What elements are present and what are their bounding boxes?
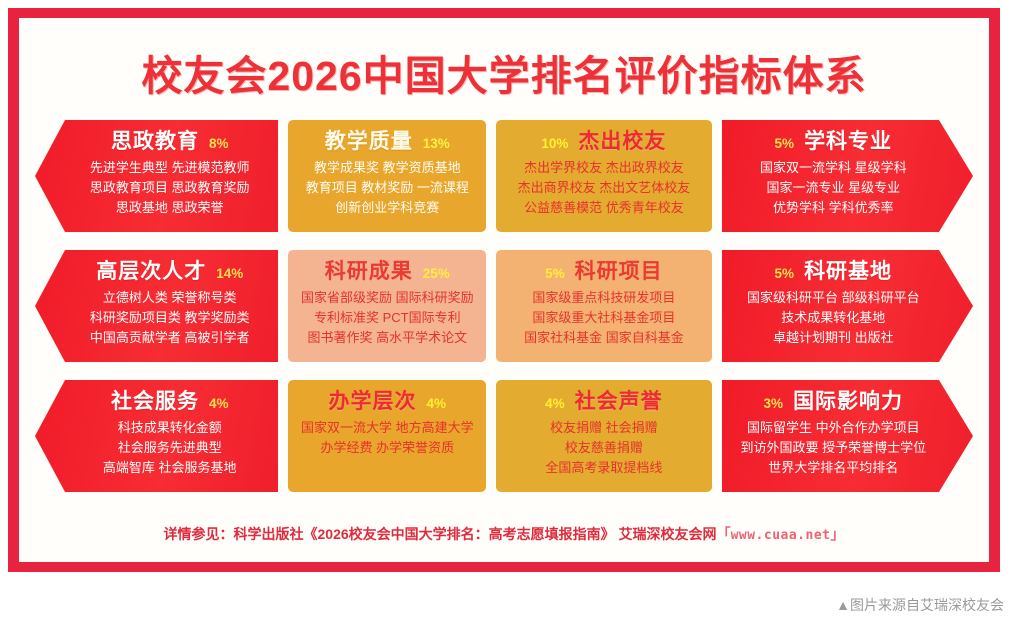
poster-canvas: 校友会2026中国大学排名评价指标体系 思政教育8%先进学生典型 先进模范教师思… — [19, 18, 989, 562]
card-header: 4%社会声誉 — [545, 389, 663, 415]
card-indicator-line: 中国高贡献学者 高被引学者 — [90, 328, 250, 348]
indicator-grid: 思政教育8%先进学生典型 先进模范教师思政教育项目 思政教育奖励思政基地 思政荣… — [35, 120, 973, 492]
indicator-card-xueke-zhuanye[interactable]: 5%学科专业国家双一流学科 星级学科国家一流专业 星级专业优势学科 学科优秀率 — [722, 120, 973, 232]
card-header: 教学质量13% — [325, 129, 450, 155]
card-weight-percent: 4% — [209, 396, 229, 413]
page-title: 校友会2026中国大学排名评价指标体系 — [19, 42, 989, 102]
indicator-card-banxue-cengci[interactable]: 办学层次4%国家双一流大学 地方高建大学办学经费 办学荣誉资质 — [288, 380, 486, 492]
card-header: 10%杰出校友 — [541, 129, 666, 155]
card-indicator-list: 国家省部级奖励 国际科研奖励专利标准奖 PCT国际专利图书著作奖 高水平学术论文 — [301, 288, 474, 347]
card-indicator-line: 科研奖励项目类 教学奖励类 — [90, 308, 250, 328]
card-indicator-line: 优势学科 学科优秀率 — [760, 198, 907, 218]
card-weight-percent: 4% — [427, 396, 447, 413]
indicator-card-keyan-xiangmu[interactable]: 5%科研项目国家级重点科技研发项目国家级重大社科基金项目国家社科基金 国家自科基… — [496, 250, 711, 362]
card-indicator-list: 国家级科研平台 部级科研平台技术成果转化基地卓越计划期刊 出版社 — [747, 288, 920, 347]
card-weight-percent: 5% — [775, 266, 795, 283]
card-weight-percent: 14% — [216, 266, 243, 283]
card-indicator-line: 杰出商界校友 杰出文艺体校友 — [518, 178, 691, 198]
card-indicator-line: 高端智库 社会服务基地 — [103, 458, 237, 478]
card-indicator-line: 社会服务先进典型 — [103, 438, 237, 458]
card-indicator-line: 国家省部级奖励 国际科研奖励 — [301, 288, 474, 308]
card-indicator-line: 先进学生典型 先进模范教师 — [90, 158, 250, 178]
card-indicator-line: 国际留学生 中外合作办学项目 — [741, 418, 927, 438]
card-indicator-line: 创新创业学科竞赛 — [306, 198, 469, 218]
footnote-text: 详情参见：科学出版社《2026校友会中国大学排名：高考志愿填报指南》 艾瑞深校友… — [164, 526, 717, 542]
card-header: 思政教育8% — [111, 129, 229, 155]
card-indicator-list: 教学成果奖 教学资质基地教育项目 教材奖励 一流课程创新创业学科竞赛 — [306, 158, 469, 217]
card-indicator-line: 国家双一流大学 地方高建大学 — [301, 418, 474, 438]
card-indicator-list: 国家双一流大学 地方高建大学办学经费 办学荣誉资质 — [301, 418, 474, 458]
card-title: 思政教育 — [111, 129, 199, 155]
card-header: 办学层次4% — [329, 389, 447, 415]
card-title: 科研基地 — [804, 259, 892, 285]
card-weight-percent: 8% — [209, 136, 229, 153]
poster-frame: 校友会2026中国大学排名评价指标体系 思政教育8%先进学生典型 先进模范教师思… — [8, 8, 1000, 572]
card-indicator-line: 图书著作奖 高水平学术论文 — [301, 328, 474, 348]
card-indicator-line: 思政基地 思政荣誉 — [90, 198, 250, 218]
card-weight-percent: 25% — [423, 266, 450, 283]
indicator-card-sizheng-jiaoyu[interactable]: 思政教育8%先进学生典型 先进模范教师思政教育项目 思政教育奖励思政基地 思政荣… — [35, 120, 278, 232]
card-header: 5%科研项目 — [545, 259, 663, 285]
card-indicator-list: 校友捐赠 社会捐赠校友慈善捐赠全国高考录取提档线 — [545, 418, 662, 477]
indicator-row: 高层次人才14%立德树人类 荣誉称号类科研奖励项目类 教学奖励类中国高贡献学者 … — [35, 250, 973, 362]
card-indicator-line: 校友捐赠 社会捐赠 — [545, 418, 662, 438]
indicator-row: 思政教育8%先进学生典型 先进模范教师思政教育项目 思政教育奖励思政基地 思政荣… — [35, 120, 973, 232]
card-indicator-list: 先进学生典型 先进模范教师思政教育项目 思政教育奖励思政基地 思政荣誉 — [90, 158, 250, 217]
bracket-open: 「 — [717, 526, 731, 542]
card-title: 科研项目 — [575, 259, 663, 285]
card-weight-percent: 10% — [541, 136, 568, 153]
card-indicator-line: 办学经费 办学荣誉资质 — [301, 438, 474, 458]
footnote: 详情参见：科学出版社《2026校友会中国大学排名：高考志愿填报指南》 艾瑞深校友… — [19, 524, 989, 544]
card-indicator-line: 科技成果转化金额 — [103, 418, 237, 438]
card-title: 社会声誉 — [575, 389, 663, 415]
card-indicator-line: 校友慈善捐赠 — [545, 438, 662, 458]
card-weight-percent: 3% — [764, 396, 784, 413]
card-weight-percent: 4% — [545, 396, 565, 413]
card-title: 办学层次 — [329, 389, 417, 415]
card-title: 社会服务 — [111, 389, 199, 415]
indicator-card-shehui-fuwu[interactable]: 社会服务4%科技成果转化金额社会服务先进典型高端智库 社会服务基地 — [35, 380, 278, 492]
card-header: 科研成果25% — [325, 259, 450, 285]
card-indicator-line: 全国高考录取提档线 — [545, 458, 662, 478]
card-indicator-line: 专利标准奖 PCT国际专利 — [301, 308, 474, 328]
card-title: 国际影响力 — [793, 389, 903, 415]
card-indicator-line: 国家双一流学科 星级学科 — [760, 158, 907, 178]
bracket-close: 」 — [830, 526, 844, 542]
card-indicator-line: 教学成果奖 教学资质基地 — [306, 158, 469, 178]
indicator-card-gaocengci-rencai[interactable]: 高层次人才14%立德树人类 荣誉称号类科研奖励项目类 教学奖励类中国高贡献学者 … — [35, 250, 278, 362]
card-indicator-line: 立德树人类 荣誉称号类 — [90, 288, 250, 308]
card-header: 社会服务4% — [111, 389, 229, 415]
indicator-card-jiechu-xiaoyou[interactable]: 10%杰出校友杰出学界校友 杰出政界校友杰出商界校友 杰出文艺体校友公益慈善模范… — [496, 120, 711, 232]
indicator-card-shehui-shengyu[interactable]: 4%社会声誉校友捐赠 社会捐赠校友慈善捐赠全国高考录取提档线 — [496, 380, 711, 492]
card-title: 教学质量 — [325, 129, 413, 155]
source-caption: ▲图片来源自艾瑞深校友会 — [836, 595, 1004, 615]
card-indicator-list: 科技成果转化金额社会服务先进典型高端智库 社会服务基地 — [103, 418, 237, 477]
indicator-card-keyan-jidi[interactable]: 5%科研基地国家级科研平台 部级科研平台技术成果转化基地卓越计划期刊 出版社 — [722, 250, 973, 362]
card-header: 3%国际影响力 — [764, 389, 904, 415]
card-indicator-line: 公益慈善模范 优秀青年校友 — [518, 198, 691, 218]
card-indicator-line: 国家级科研平台 部级科研平台 — [747, 288, 920, 308]
indicator-card-jiaoxue-zhiliang[interactable]: 教学质量13%教学成果奖 教学资质基地教育项目 教材奖励 一流课程创新创业学科竞… — [288, 120, 486, 232]
card-header: 5%科研基地 — [775, 259, 893, 285]
card-indicator-list: 国家双一流学科 星级学科国家一流专业 星级专业优势学科 学科优秀率 — [760, 158, 907, 217]
card-indicator-line: 到访外国政要 授予荣誉博士学位 — [741, 438, 927, 458]
card-title: 科研成果 — [325, 259, 413, 285]
card-weight-percent: 5% — [775, 136, 795, 153]
card-indicator-list: 立德树人类 荣誉称号类科研奖励项目类 教学奖励类中国高贡献学者 高被引学者 — [90, 288, 250, 347]
website-url[interactable]: www.cuaa.net — [731, 528, 831, 543]
card-indicator-line: 国家一流专业 星级专业 — [760, 178, 907, 198]
card-header: 高层次人才14% — [96, 259, 243, 285]
card-indicator-line: 国家级重点科技研发项目 — [524, 288, 684, 308]
card-title: 杰出校友 — [578, 129, 666, 155]
card-title: 高层次人才 — [96, 259, 206, 285]
card-indicator-line: 世界大学排名平均排名 — [741, 458, 927, 478]
indicator-card-guoji-yingxiangli[interactable]: 3%国际影响力国际留学生 中外合作办学项目到访外国政要 授予荣誉博士学位世界大学… — [722, 380, 973, 492]
card-indicator-list: 杰出学界校友 杰出政界校友杰出商界校友 杰出文艺体校友公益慈善模范 优秀青年校友 — [518, 158, 691, 217]
card-weight-percent: 13% — [423, 136, 450, 153]
card-indicator-list: 国际留学生 中外合作办学项目到访外国政要 授予荣誉博士学位世界大学排名平均排名 — [741, 418, 927, 477]
card-indicator-line: 卓越计划期刊 出版社 — [747, 328, 920, 348]
card-indicator-line: 国家级重大社科基金项目 — [524, 308, 684, 328]
card-weight-percent: 5% — [545, 266, 565, 283]
card-indicator-line: 思政教育项目 思政教育奖励 — [90, 178, 250, 198]
card-indicator-line: 教育项目 教材奖励 一流课程 — [306, 178, 469, 198]
card-header: 5%学科专业 — [775, 129, 893, 155]
card-indicator-line: 国家社科基金 国家自科基金 — [524, 328, 684, 348]
card-indicator-list: 国家级重点科技研发项目国家级重大社科基金项目国家社科基金 国家自科基金 — [524, 288, 684, 347]
indicator-card-keyan-chengguo[interactable]: 科研成果25%国家省部级奖励 国际科研奖励专利标准奖 PCT国际专利图书著作奖 … — [288, 250, 486, 362]
indicator-row: 社会服务4%科技成果转化金额社会服务先进典型高端智库 社会服务基地办学层次4%国… — [35, 380, 973, 492]
card-indicator-line: 技术成果转化基地 — [747, 308, 920, 328]
card-indicator-line: 杰出学界校友 杰出政界校友 — [518, 158, 691, 178]
card-title: 学科专业 — [804, 129, 892, 155]
